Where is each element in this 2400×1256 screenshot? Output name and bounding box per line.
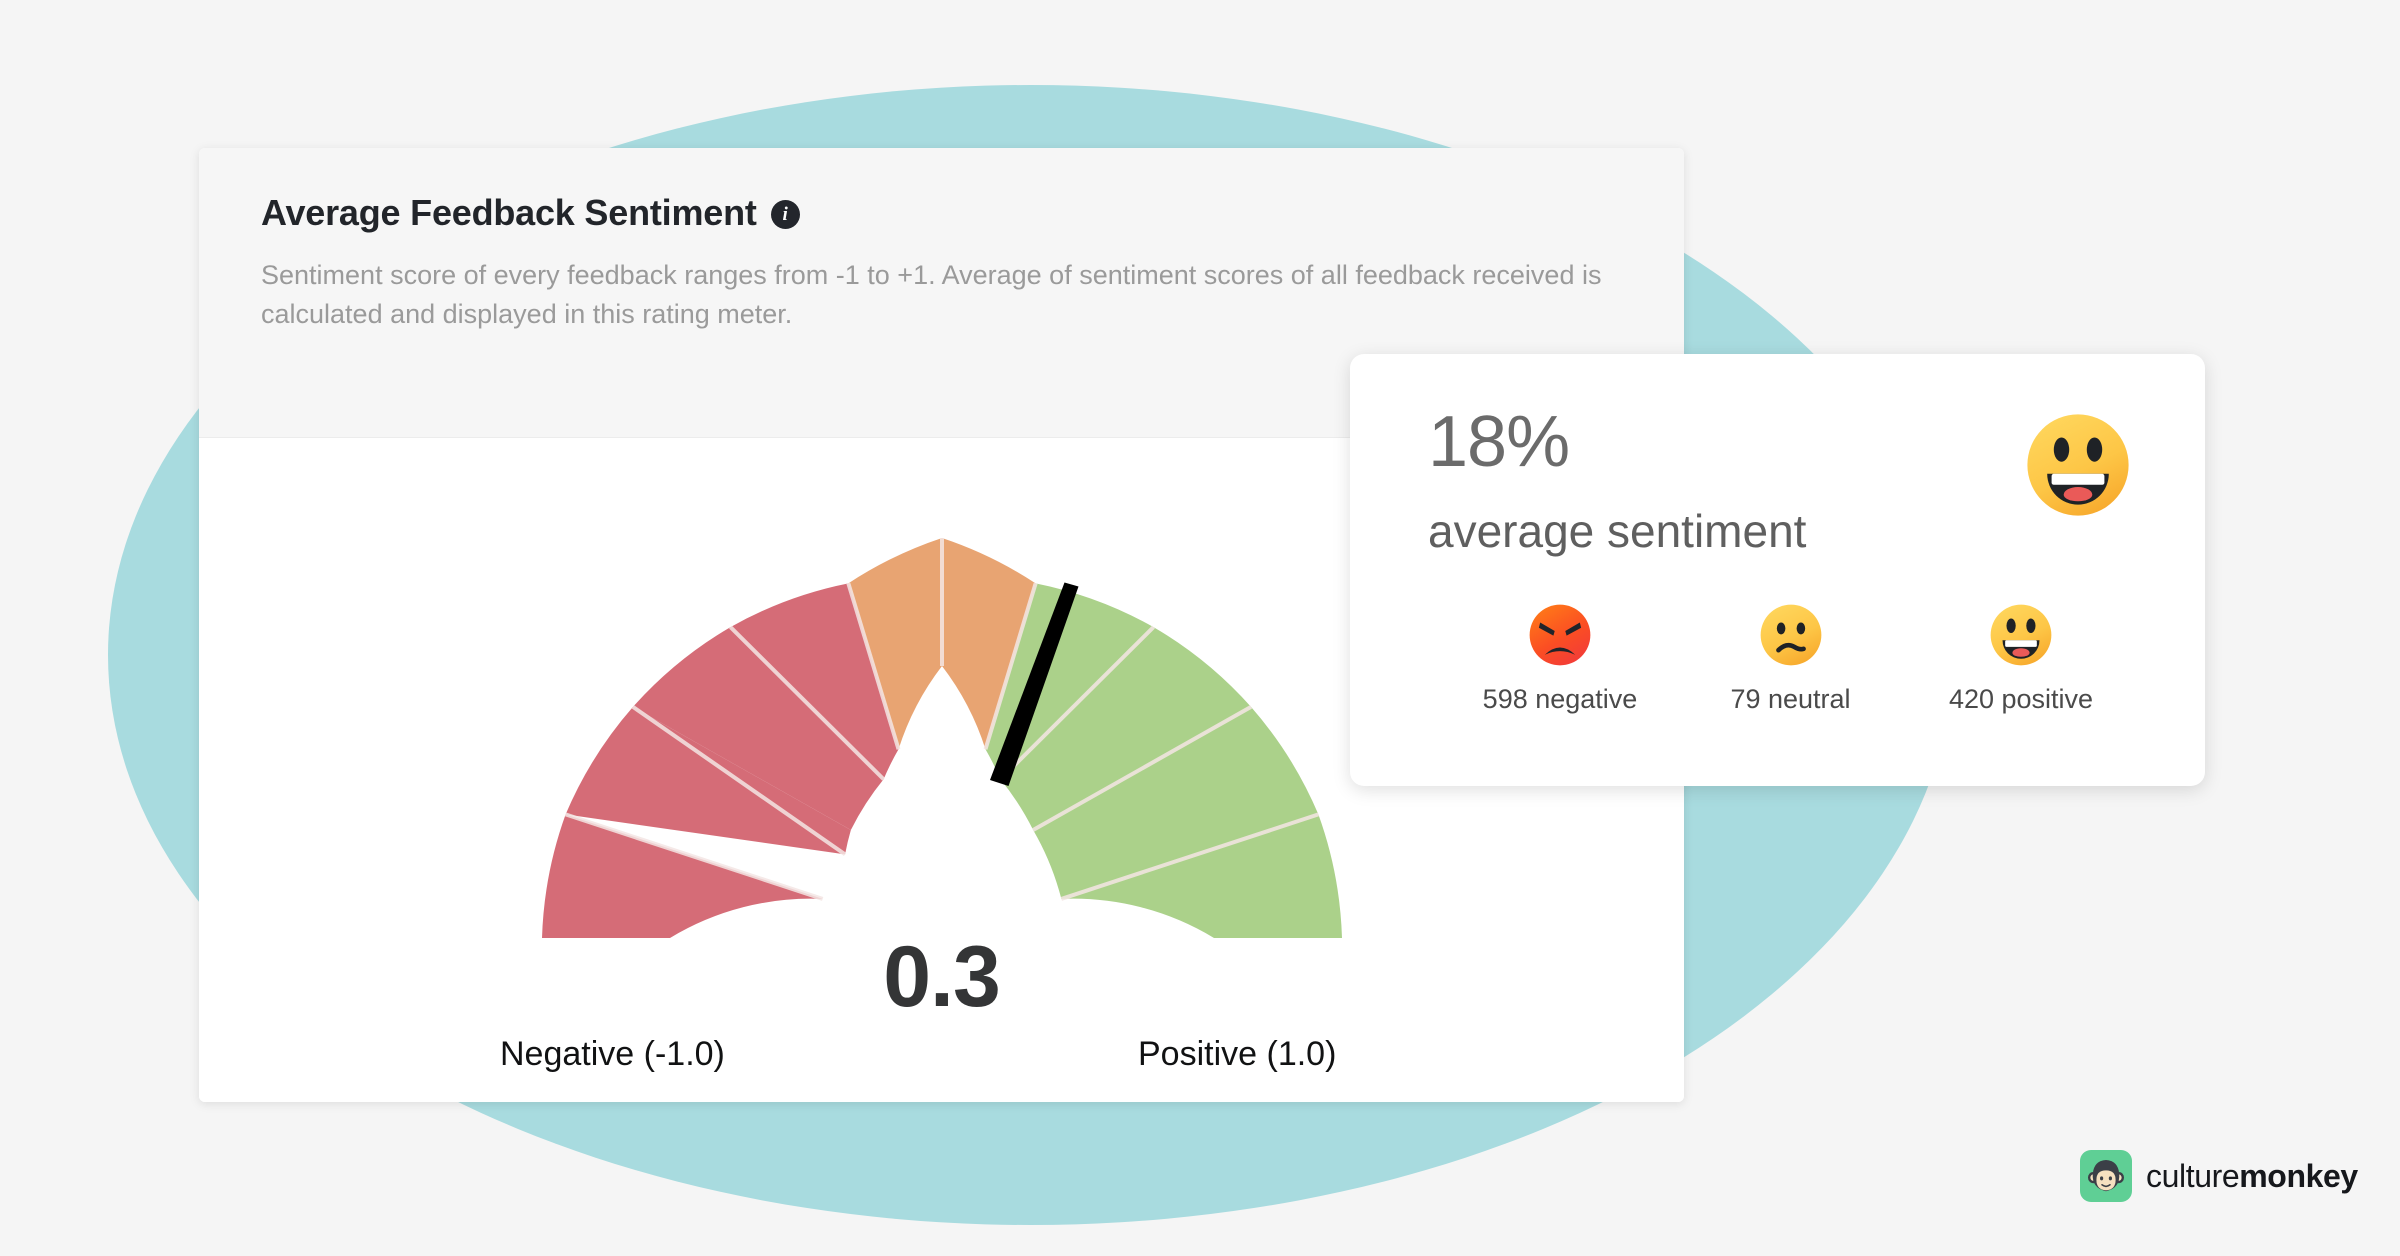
grinning-face-icon [1988,602,2054,668]
average-sentiment-percent: 18% [1428,406,1806,478]
logo-text-monkey: monkey [2239,1158,2358,1194]
gauge-min-label: Negative (-1.0) [500,1035,725,1074]
breakdown-label-negative: 598 negative [1483,684,1638,715]
breakdown-label-neutral: 79 neutral [1730,684,1850,715]
page-title: Average Feedback Sentiment [261,192,757,234]
breakdown-label-positive: 420 positive [1949,684,2093,715]
breakdown-item-negative: 598 negative [1450,602,1670,715]
gauge-axis-labels: Negative (-1.0) Positive (1.0) [199,1035,1684,1085]
logo-text-culture: culture [2146,1158,2239,1194]
info-icon[interactable]: i [771,200,800,229]
grinning-face-icon [2023,410,2133,520]
confused-face-emoji [1758,602,1824,668]
monkey-face-icon [2080,1150,2132,1202]
breakdown-item-positive: 420 positive [1911,602,2131,715]
sentiment-breakdown-row: 598 negative 7 [1428,602,2139,715]
grinning-face-emoji [2023,410,2133,520]
angry-face-icon [1527,602,1593,668]
gauge-max-label: Positive (1.0) [1138,1035,1336,1074]
sentiment-summary-card: 18% average sentiment [1350,354,2205,786]
average-sentiment-label: average sentiment [1428,508,1806,554]
monkey-face-glyph [2086,1156,2126,1196]
card-title-row: Average Feedback Sentiment i [261,192,1622,234]
culturemonkey-logo: culturemonkey [2080,1150,2358,1202]
grinning-face-emoji [1988,602,2054,668]
confused-face-icon [1758,602,1824,668]
breakdown-item-neutral: 79 neutral [1681,602,1901,715]
angry-face-emoji [1527,602,1593,668]
gauge-svg [442,458,1442,978]
gauge-value: 0.3 [199,928,1684,1027]
summary-top-row: 18% average sentiment [1428,406,2139,554]
summary-headline: 18% average sentiment [1428,406,1806,554]
logo-wordmark: culturemonkey [2146,1158,2358,1195]
card-description: Sentiment score of every feedback ranges… [261,256,1622,334]
